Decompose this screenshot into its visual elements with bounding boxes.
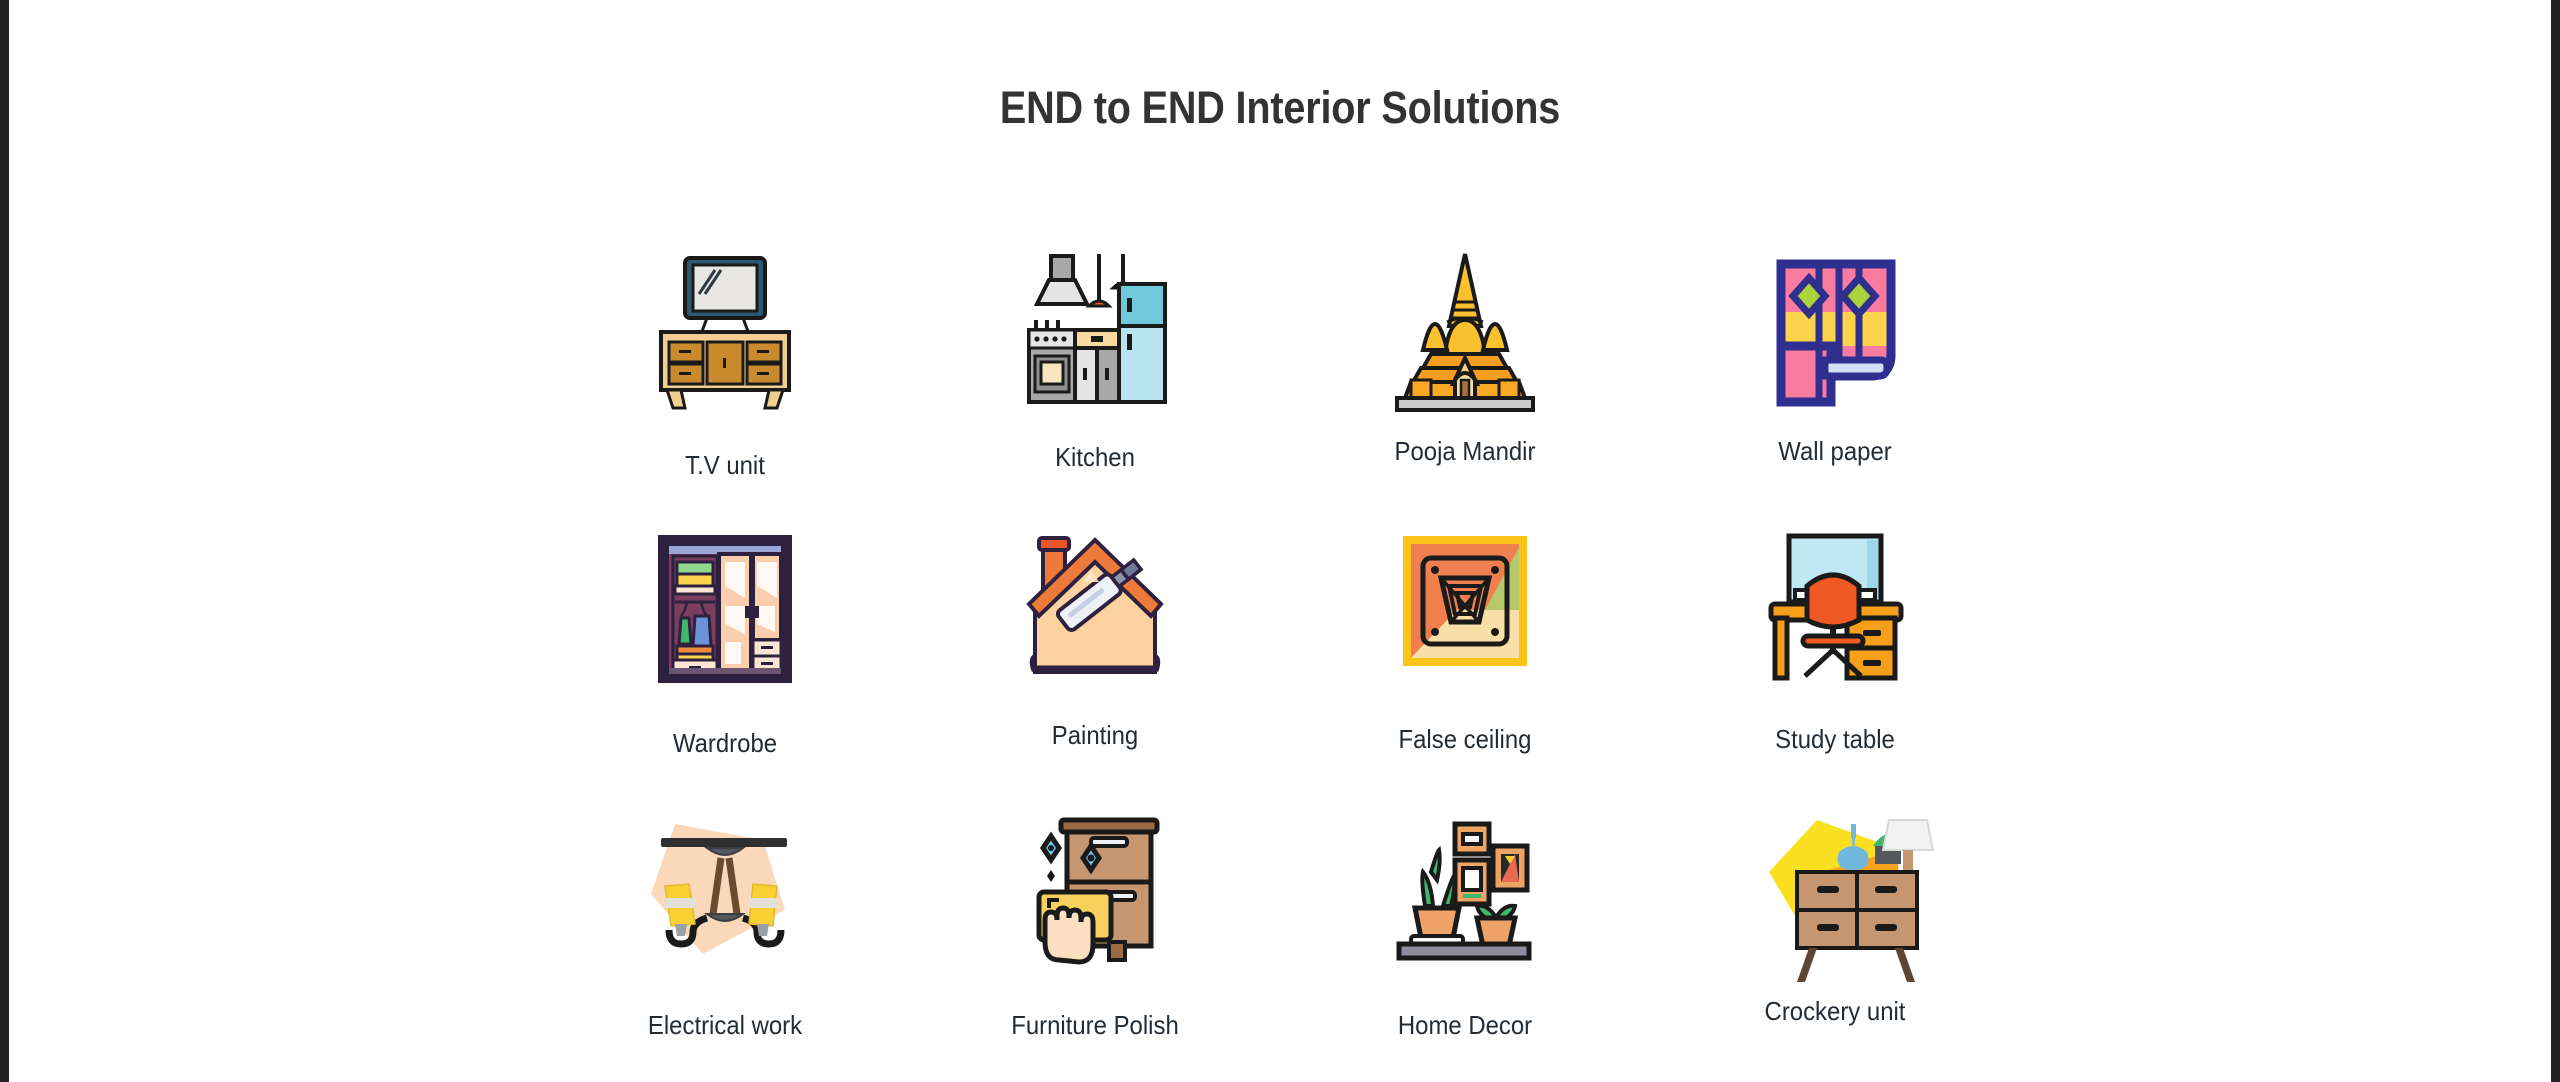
study-table-icon [1755,528,1915,698]
right-edge-band [2551,0,2560,1082]
tv-unit-icon [645,250,805,420]
service-card-wardrobe[interactable]: Wardrobe [575,528,875,759]
furniture-polish-icon [1015,810,1175,980]
service-label: Wall paper [1697,436,1973,467]
service-label: Home Decor [1327,1010,1603,1041]
service-card-kitchen[interactable]: Kitchen [945,250,1245,473]
page-content: END to END Interior Solutions [9,0,2551,1082]
service-label: T.V unit [587,450,863,481]
service-card-furniture-polish[interactable]: Furniture Polish [945,810,1245,1041]
service-label: Painting [957,720,1233,751]
service-card-painting[interactable]: Painting [945,528,1245,751]
crockery-unit-icon [1755,810,1915,980]
service-card-pooja-mandir[interactable]: Pooja Mandir [1315,250,1615,467]
kitchen-icon [1015,250,1175,420]
service-label: Pooja Mandir [1327,436,1603,467]
pooja-mandir-icon [1385,250,1545,420]
wall-paper-icon [1755,250,1915,420]
service-label: Furniture Polish [957,1010,1233,1041]
service-label: Crockery unit [1697,996,1973,1027]
service-card-crockery-unit[interactable]: Crockery unit [1685,810,1985,1027]
service-label: Wardrobe [587,728,863,759]
electrical-work-icon [645,810,805,980]
service-card-electrical-work[interactable]: Electrical work [575,810,875,1041]
service-card-false-ceiling[interactable]: False ceiling [1315,528,1615,755]
service-card-wall-paper[interactable]: Wall paper [1685,250,1985,467]
service-label: Kitchen [957,442,1233,473]
screenshot-root: END to END Interior Solutions [0,0,2560,1082]
service-card-tv-unit[interactable]: T.V unit [575,250,875,481]
false-ceiling-icon [1385,528,1545,698]
wardrobe-icon [645,528,805,698]
service-label: Electrical work [587,1010,863,1041]
service-card-study-table[interactable]: Study table [1685,528,1985,755]
painting-icon [1015,528,1175,698]
service-label: Study table [1697,724,1973,755]
service-label: False ceiling [1327,724,1603,755]
home-decor-icon [1385,810,1545,980]
service-card-home-decor[interactable]: Home Decor [1315,810,1615,1041]
services-grid: T.V unit [9,0,2551,1082]
left-edge-band [0,0,9,1082]
